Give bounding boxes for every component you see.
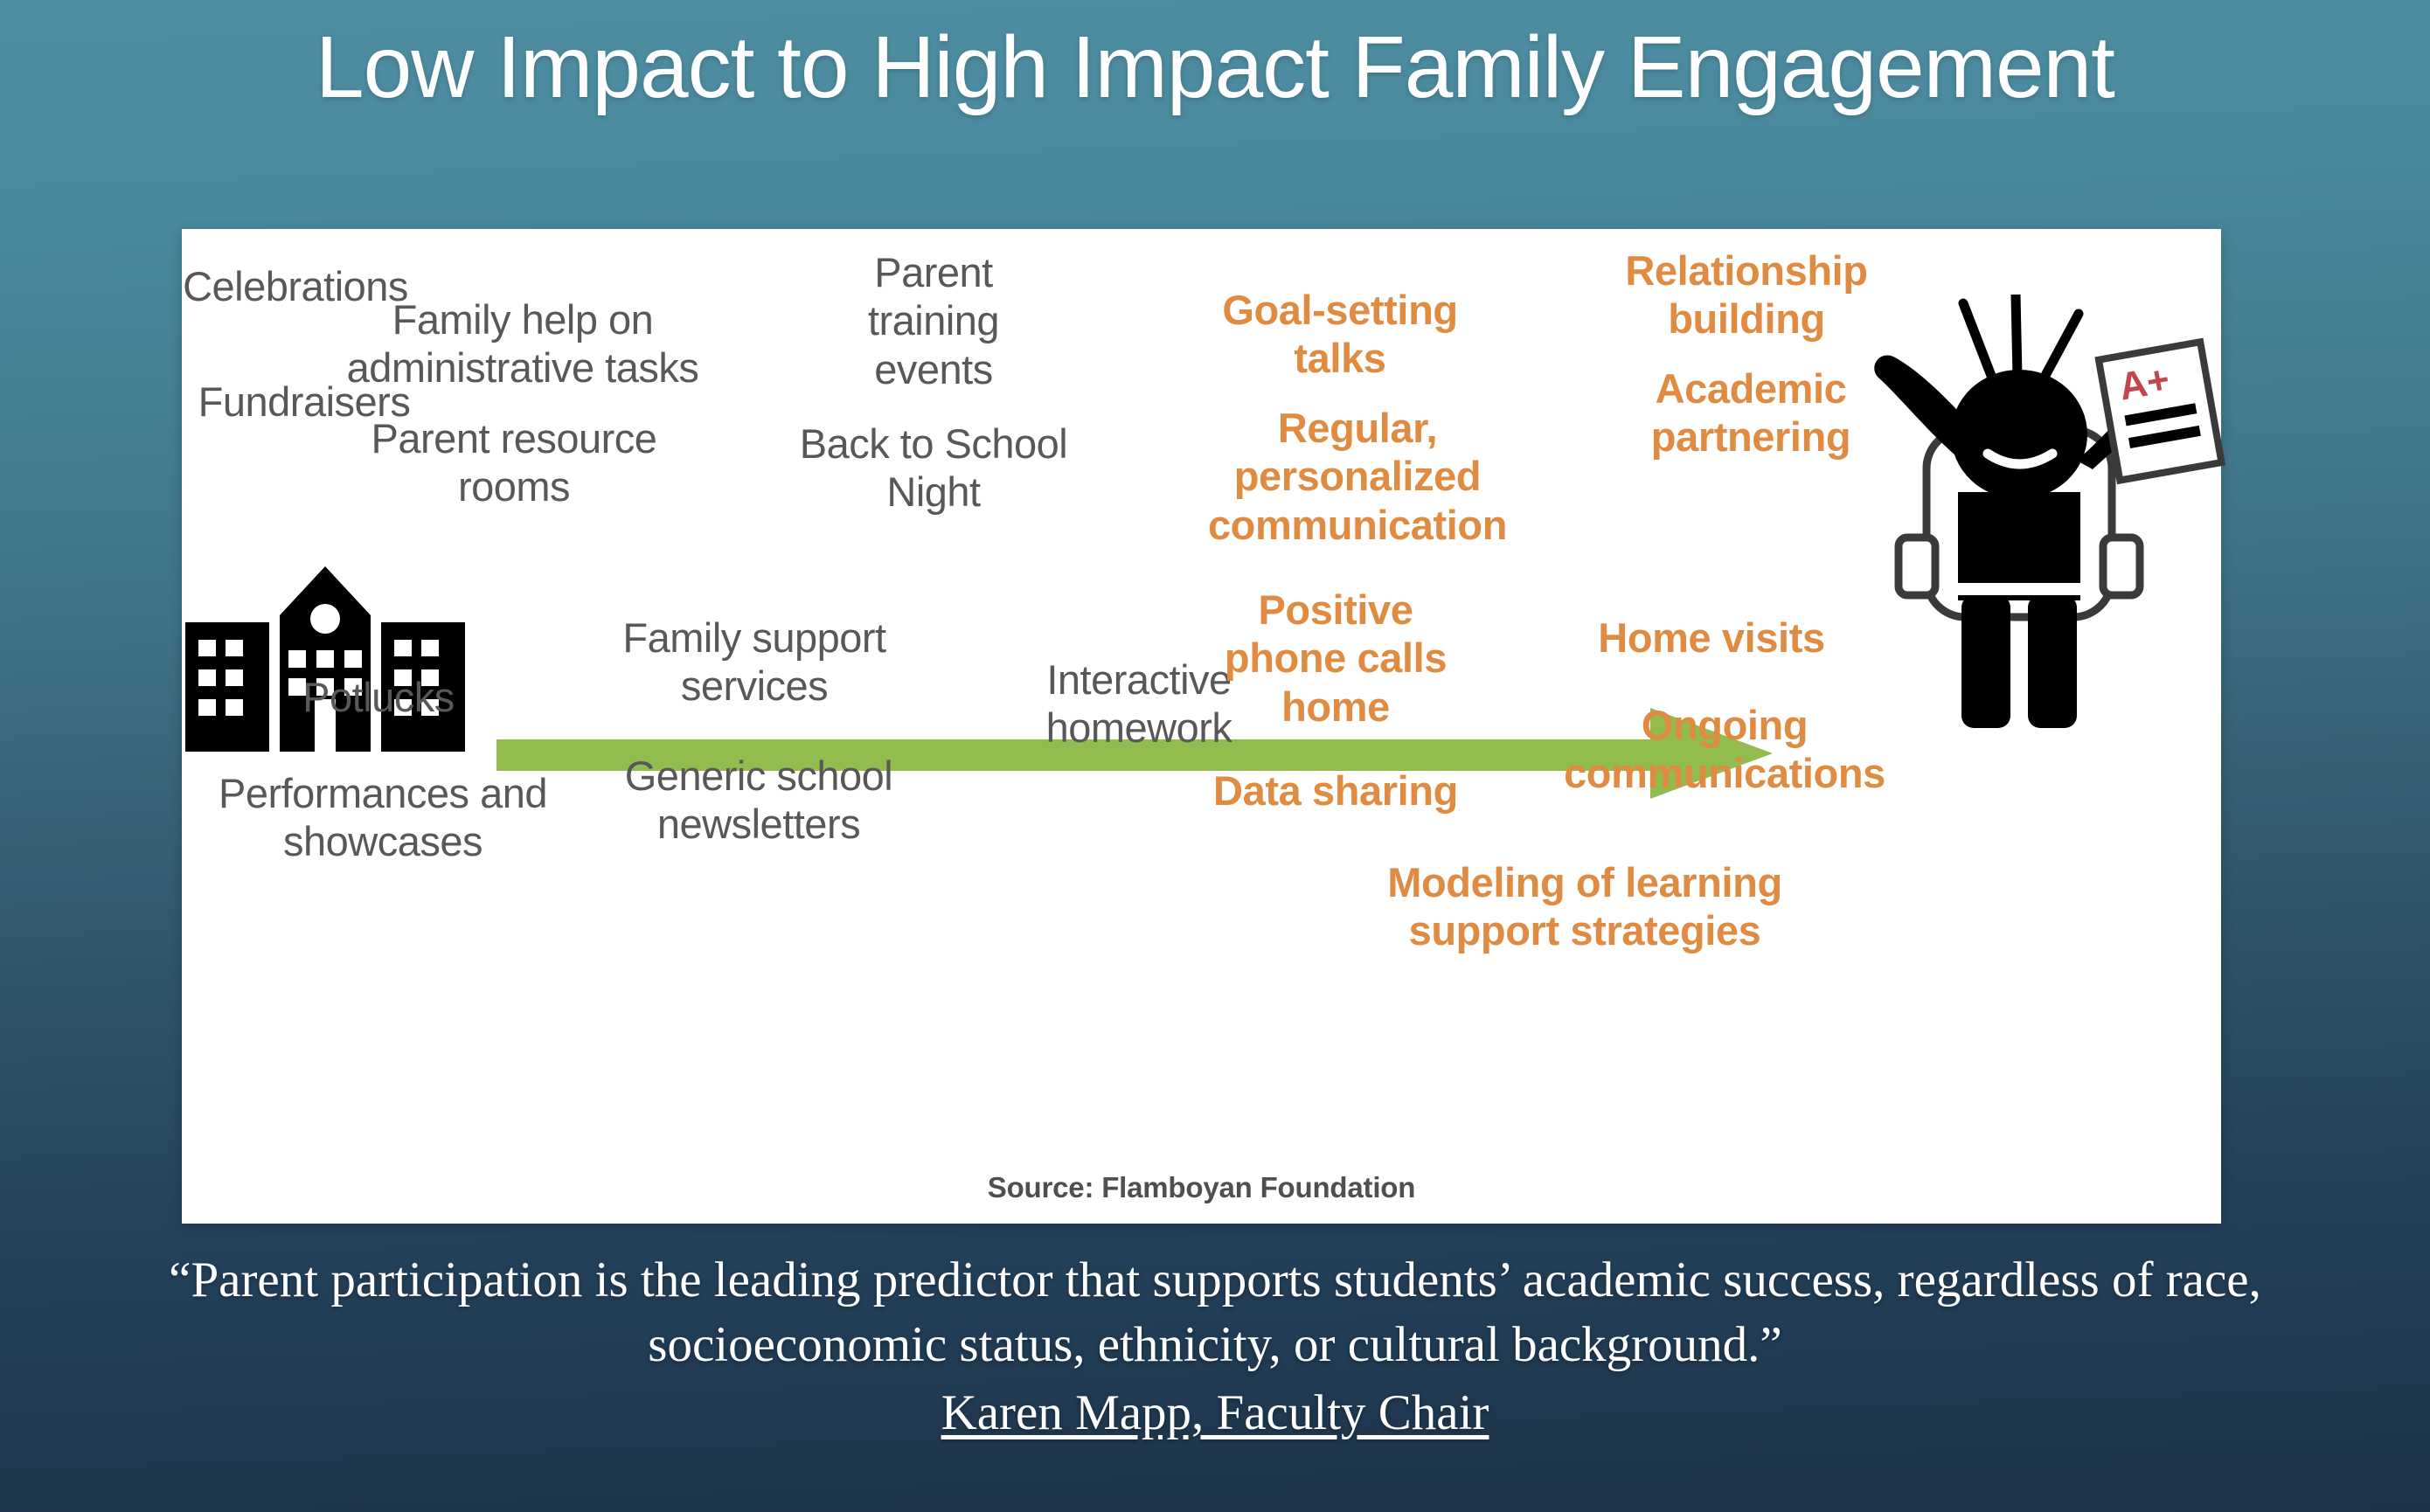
high-impact-label-data-sharing: Data sharing: [1152, 766, 1519, 815]
low-impact-label-back-to-school-night: Back to School Night: [732, 420, 1135, 517]
diagram-card: A+ Celebrations Family help on administr…: [182, 229, 2221, 1224]
low-impact-label-parent-resource-rooms: Parent resource rooms: [300, 414, 728, 511]
school-building-icon: [129, 552, 514, 753]
low-impact-label-family-support-services: Family support services: [549, 614, 960, 711]
quote-text: “Parent participation is the leading pre…: [169, 1252, 2261, 1372]
diagram-canvas: A+ Celebrations Family help on administr…: [182, 229, 2221, 1224]
svg-text:A+: A+: [2116, 357, 2173, 408]
high-impact-label-modeling-of-learning-support-strategies: Modeling of learning support strategies: [1279, 858, 1891, 955]
low-impact-label-generic-school-newsletters: Generic school newsletters: [549, 752, 969, 849]
celebrating-student-icon: A+: [1860, 295, 2227, 740]
page-title: Low Impact to High Impact Family Engagem…: [0, 19, 2430, 115]
quote-block: “Parent participation is the leading pre…: [70, 1248, 2360, 1446]
high-impact-label-academic-partnering: Academic partnering: [1559, 364, 1943, 461]
quote-attribution: Karen Mapp, Faculty Chair: [941, 1381, 1489, 1446]
low-impact-label-parent-training-events: Parent training events: [776, 248, 1091, 393]
low-impact-label-potlucks: Potlucks: [221, 673, 536, 721]
high-impact-label-goal-setting-talks: Goal-setting talks: [1156, 286, 1524, 383]
high-impact-label-positive-phone-calls-home: Positive phone calls home: [1161, 586, 1510, 731]
high-impact-label-regular-personalized-communication: Regular, personalized communication: [1148, 404, 1567, 549]
high-impact-label-ongoing-communications: Ongoing communications: [1519, 701, 1930, 798]
high-impact-label-relationship-building: Relationship building: [1545, 246, 1947, 343]
source-attribution: Source: Flamboyan Foundation: [182, 1171, 2221, 1204]
high-impact-label-home-visits: Home visits: [1528, 614, 1895, 662]
